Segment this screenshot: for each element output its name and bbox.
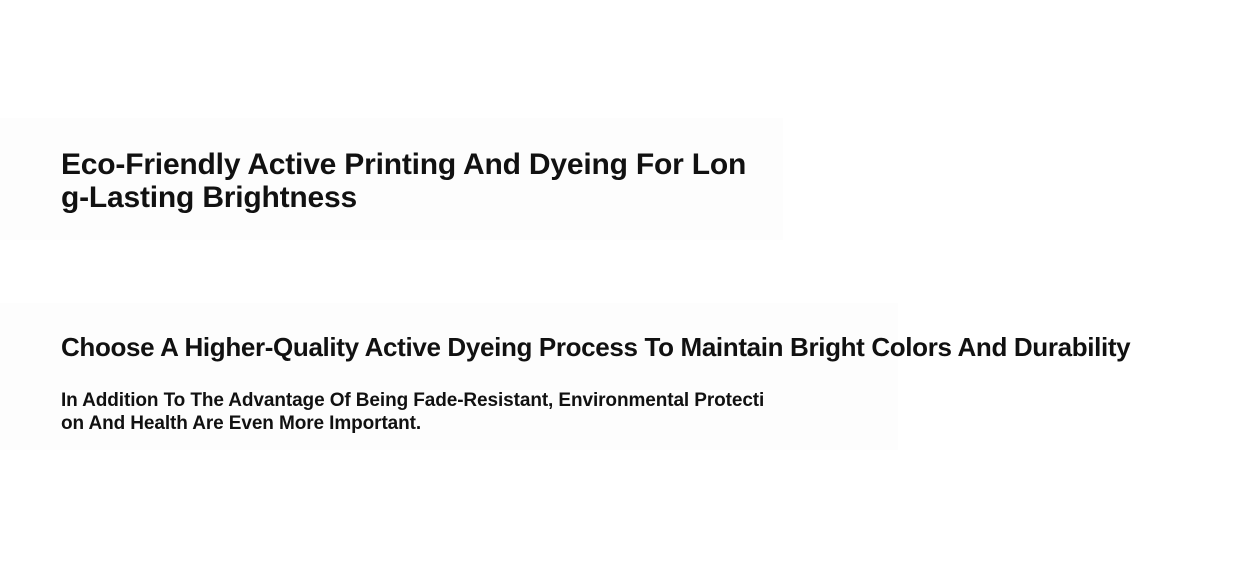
section-body-text: In Addition To The Advantage Of Being Fa… bbox=[61, 389, 767, 435]
product-description-section: Eco-Friendly Active Printing And Dyeing … bbox=[0, 0, 1242, 572]
section-subheading: Choose A Higher-Quality Active Dyeing Pr… bbox=[61, 331, 1242, 363]
page-title: Eco-Friendly Active Printing And Dyeing … bbox=[61, 148, 761, 214]
